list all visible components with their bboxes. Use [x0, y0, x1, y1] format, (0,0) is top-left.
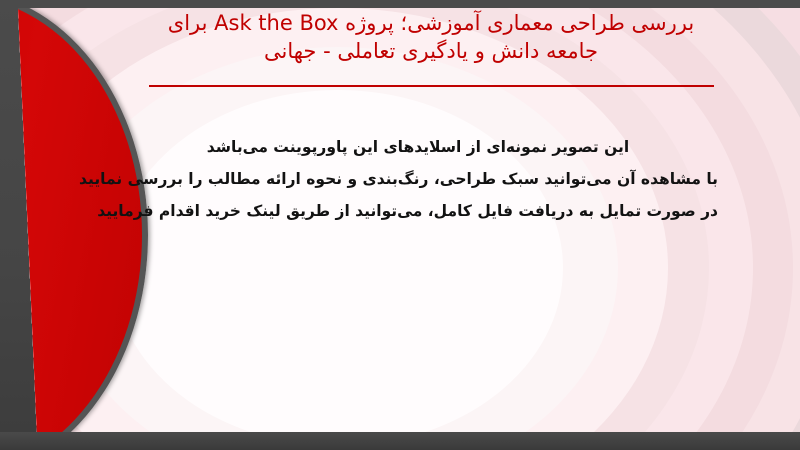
body-line: در صورت تمایل به دریافت فایل کامل، می‌تو… — [118, 196, 718, 228]
body-line: این تصویر نمونه‌ای از اسلایدهای این پاور… — [118, 132, 718, 164]
body-line: با مشاهده آن می‌توانید سبک طراحی، رنگ‌بن… — [118, 164, 718, 196]
slide-content-panel: بررسی طراحی معماری آموزشی؛ پروژه Ask the… — [18, 8, 800, 432]
slide-body-text: این تصویر نمونه‌ای از اسلایدهای این پاور… — [118, 132, 718, 227]
title-divider-rule — [149, 85, 714, 87]
presentation-slide: بررسی طراحی معماری آموزشی؛ پروژه Ask the… — [0, 0, 800, 450]
slide-bottom-band — [0, 432, 800, 450]
slide-title: بررسی طراحی معماری آموزشی؛ پروژه Ask the… — [146, 10, 716, 66]
